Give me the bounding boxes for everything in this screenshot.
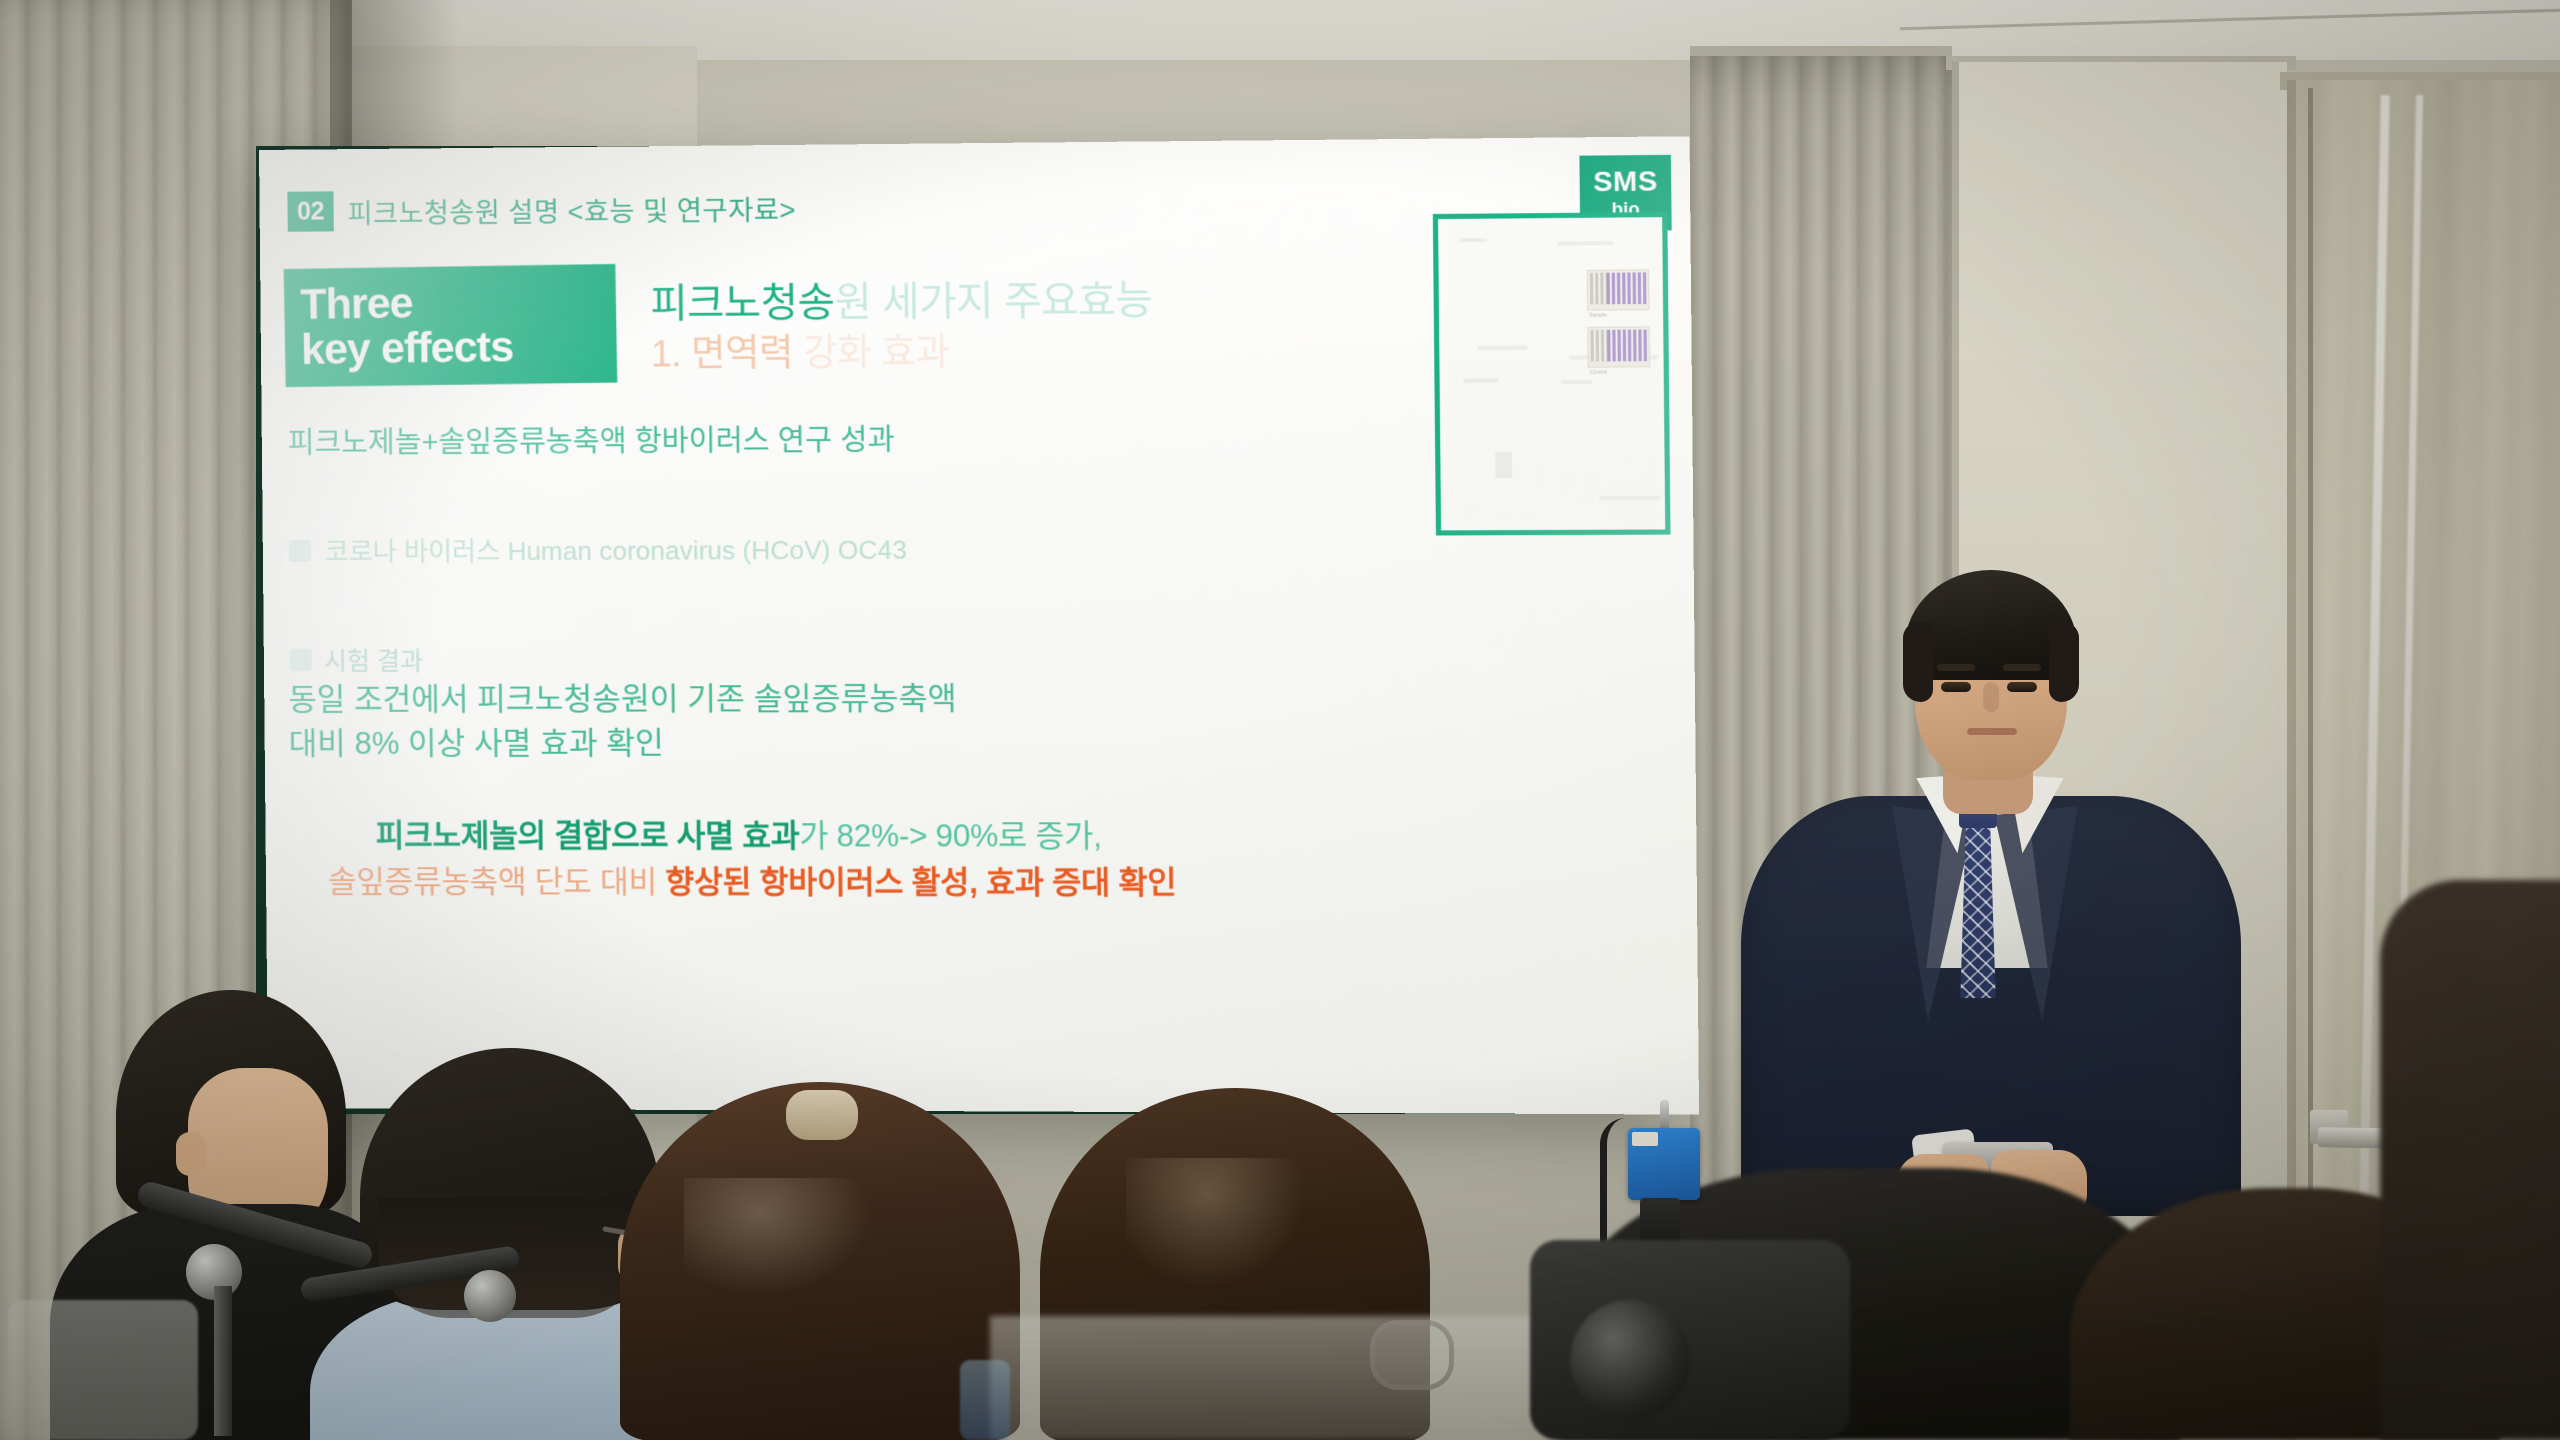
presenter-mouth: [1967, 728, 2017, 735]
document-page: Sample Control: [1445, 224, 1658, 523]
presenter-hair-side: [1903, 622, 1933, 702]
microplate-image-1: [1587, 269, 1650, 310]
presenter-nose: [1983, 682, 1999, 712]
three-key-effects-block: Three key effects: [284, 264, 618, 387]
slide-section-number: 02: [287, 191, 333, 231]
table-edge: [990, 1316, 1610, 1440]
audience-1-ear: [176, 1132, 206, 1176]
conclusion-2-bold: 향상된 항바이러스 활성, 효과 증대 확인: [665, 864, 1176, 900]
result-line-2: 대비 8% 이상 사멸 효과 확인: [288, 721, 957, 766]
slide-main-title-strong: 피크노청송: [650, 281, 834, 327]
presenter-eyebrow-right: [2003, 664, 2041, 671]
slide-main-title-faded: 원 세가지 주요효능: [834, 278, 1153, 325]
microphone-head-icon: [464, 1270, 516, 1322]
bullet-check-icon: [290, 649, 312, 671]
microphone-arm: [135, 1179, 375, 1271]
result-label: 시험 결과: [324, 642, 424, 678]
microplate-image-2: [1587, 326, 1650, 367]
presenter-hair-side: [2049, 622, 2079, 702]
conference-room-scene: 02 피크노청송원 설명 <효능 및 연구자료> SMS bio Three k…: [0, 0, 2560, 1440]
virus-line: 코로나 바이러스 Human coronavirus (HCoV) OC43: [325, 529, 907, 568]
result-line-1: 동일 조건에서 피크노청송원이 기존 솔잎증류농축액: [288, 677, 957, 722]
slide-sub-title: 1. 면역력 강화 효과: [651, 321, 950, 377]
presenter: [1705, 560, 2265, 1200]
research-headline: 피크노제놀+솔잎증류농축액 항바이러스 연구 성과: [288, 416, 895, 461]
slide-main-title: 피크노청송원 세가지 주요효능: [650, 267, 1153, 329]
microphone-post: [214, 1286, 232, 1436]
conclusion-1-bold: 피크노제놀의 결합으로 사멸 효과: [376, 818, 800, 853]
key-effects-line-2: key effects: [301, 323, 617, 373]
slide-sub-title-strong: 1. 면역력: [651, 332, 793, 374]
audience-4-hair-highlight: [1126, 1158, 1306, 1288]
camera-lens-icon: [1570, 1300, 1690, 1420]
logo-wordmark: SMS: [1593, 167, 1658, 196]
presenter-eyebrow-left: [1937, 664, 1975, 671]
slide-header: 02 피크노청송원 설명 <효능 및 연구자료>: [287, 187, 796, 232]
microplate-2-caption: Control: [1590, 370, 1607, 376]
research-document-panel: Sample Control: [1433, 212, 1671, 535]
conclusion-1-rest: 가 82%-> 90%로 증가,: [799, 818, 1101, 854]
presenter-eye-right: [2007, 682, 2037, 692]
audience-3-hair-highlight: [684, 1178, 874, 1298]
transmitter-label: [1632, 1132, 1658, 1146]
result-label-row: 시험 결과: [290, 642, 424, 678]
presentation-slide: 02 피크노청송원 설명 <효능 및 연구자료> SMS bio Three k…: [259, 136, 1699, 1114]
water-bottle[interactable]: [960, 1360, 1010, 1440]
slide-header-title: 피크노청송원 설명 <효능 및 연구자료>: [347, 188, 796, 231]
presenter-eye-left: [1941, 682, 1971, 692]
conclusion-2-lead: 솔잎증류농축액 단도 대비: [328, 864, 666, 900]
conclusion-line-2: 솔잎증류농축액 단도 대비 향상된 항바이러스 활성, 효과 증대 확인: [328, 856, 1177, 902]
microplate-1-caption: Sample: [1589, 312, 1607, 318]
conclusion-line-1: 피크노제놀의 결합으로 사멸 효과가 82%-> 90%로 증가,: [375, 810, 1101, 856]
key-effects-line-1: Three: [300, 278, 616, 328]
audience-member-7: [2380, 880, 2560, 1440]
microphone-stand-2[interactable]: [300, 1262, 530, 1440]
bullet-check-icon: [289, 539, 311, 561]
audience-3-hair-clip: [786, 1090, 858, 1140]
result-body: 동일 조건에서 피크노청송원이 기존 솔잎증류농축액 대비 8% 이상 사멸 효…: [288, 677, 957, 766]
slide-sub-title-faded: 강화 효과: [793, 331, 950, 373]
virus-row: 코로나 바이러스 Human coronavirus (HCoV) OC43: [289, 529, 907, 568]
wall-slat-panel-center-trim: [1690, 46, 1952, 56]
